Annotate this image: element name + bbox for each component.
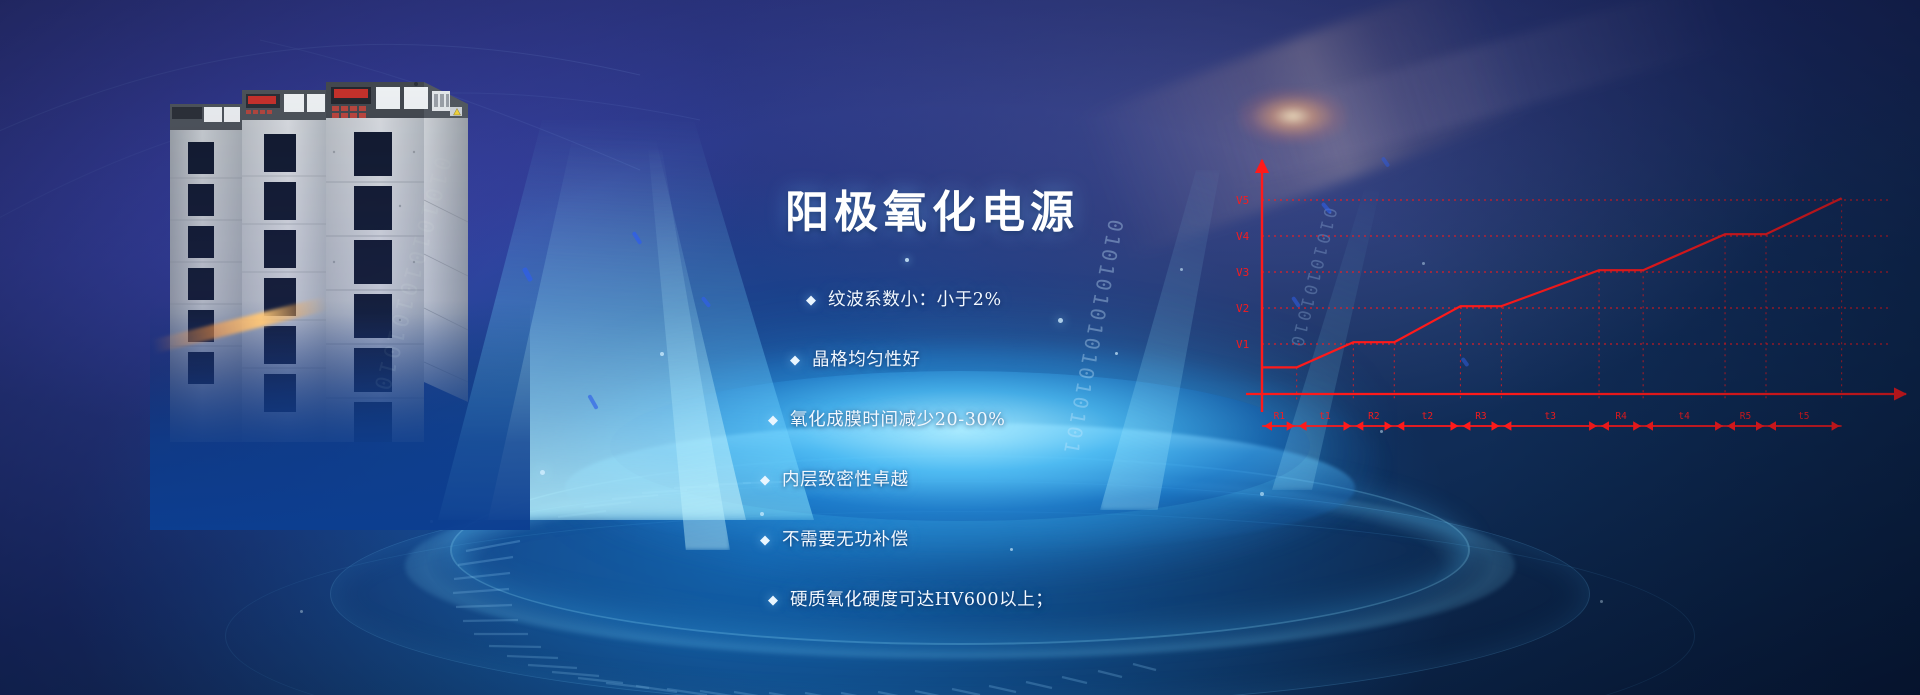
diamond-bullet-icon: ◆: [760, 528, 770, 552]
svg-text:R2: R2: [1368, 411, 1379, 422]
svg-text:t5: t5: [1798, 411, 1809, 422]
cabinet-2: [242, 90, 326, 442]
light-beam-left: [560, 150, 730, 550]
svg-text:R4: R4: [1615, 411, 1627, 422]
diamond-bullet-icon: ◆: [768, 408, 778, 432]
list-item: ◆ 纹波系数小：小于2%: [806, 288, 1310, 312]
svg-text:V4: V4: [1236, 230, 1250, 243]
diamond-bullet-icon: ◆: [760, 468, 770, 492]
cabinet-3: [326, 82, 468, 442]
power-supply-cabinets: [168, 82, 498, 482]
list-item: ◆ 内层致密性卓越: [760, 468, 1310, 492]
list-item: ◆ 氧化成膜时间减少20-30%: [768, 408, 1310, 432]
feature-text: 不需要无功补偿: [782, 528, 909, 552]
diamond-bullet-icon: ◆: [806, 288, 816, 312]
feature-list: ◆ 纹波系数小：小于2% ◆ 晶格均匀性好 ◆ 氧化成膜时间减少20-30% ◆…: [790, 288, 1310, 648]
lens-flare-icon: [1238, 88, 1348, 144]
list-item: ◆ 晶格均匀性好: [790, 348, 1310, 372]
svg-text:t3: t3: [1544, 411, 1555, 422]
light-cone-core: [470, 140, 770, 520]
feature-text: 纹波系数小：小于2%: [828, 288, 1002, 312]
list-item: ◆ 硬质氧化硬度可达HV600以上；: [768, 588, 1310, 612]
feature-text: 硬质氧化硬度可达HV600以上；: [790, 588, 1053, 612]
diamond-bullet-icon: ◆: [790, 348, 800, 372]
cabinet-1: [170, 104, 242, 442]
feature-text: 内层致密性卓越: [782, 468, 909, 492]
warning-label: [450, 107, 462, 116]
svg-text:V3: V3: [1236, 266, 1249, 279]
svg-text:t2: t2: [1422, 411, 1433, 422]
svg-text:V5: V5: [1236, 194, 1249, 207]
voltage-time-chart: V1V2V3V4V5R1t1R2t2R3t3R4t4R5t5: [1230, 150, 1910, 450]
svg-text:R5: R5: [1740, 411, 1751, 422]
feature-text: 氧化成膜时间减少20-30%: [790, 408, 1005, 432]
svg-text:t1: t1: [1319, 411, 1331, 422]
page-title: 阳极氧化电源: [785, 176, 1079, 240]
svg-text:t4: t4: [1678, 411, 1690, 422]
feature-text: 晶格均匀性好: [812, 348, 921, 372]
chart-canvas: V1V2V3V4V5R1t1R2t2R3t3R4t4R5t5: [1230, 150, 1910, 450]
list-item: ◆ 不需要无功补偿: [760, 528, 1310, 552]
svg-text:R3: R3: [1475, 411, 1486, 422]
hero-banner: 010101010101010 0101010101010101 0101010…: [0, 0, 1920, 695]
diamond-bullet-icon: ◆: [768, 588, 778, 612]
